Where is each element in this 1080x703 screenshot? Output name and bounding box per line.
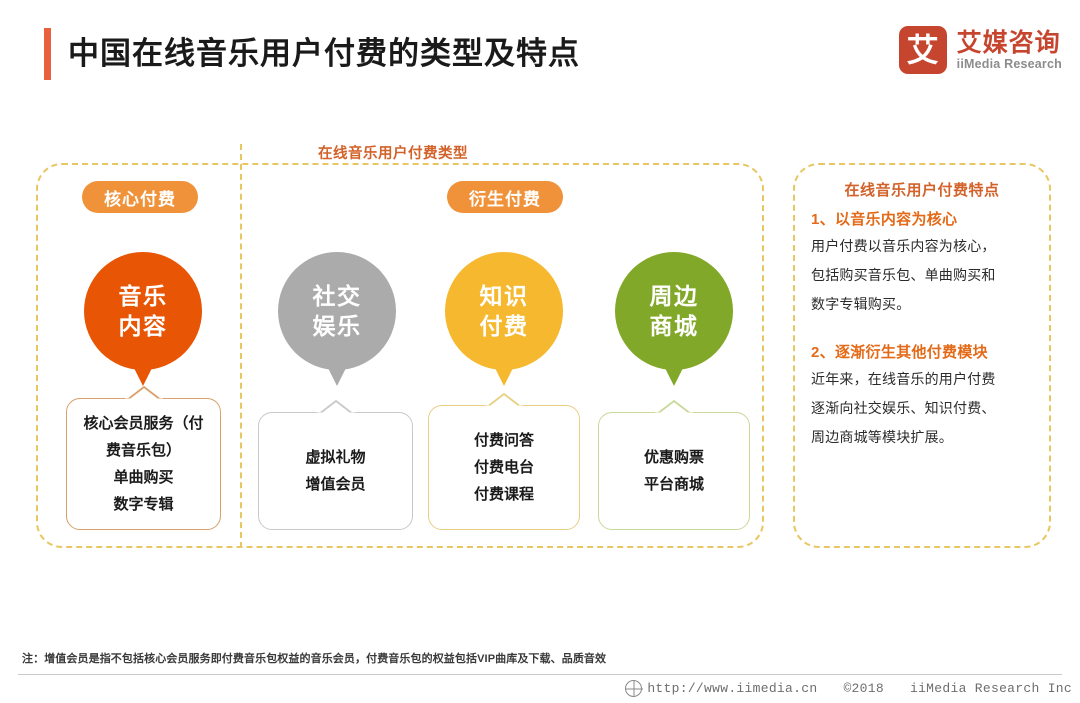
page-header: 中国在线音乐用户付费的类型及特点 艾 艾媒咨询 iiMedia Research <box>0 0 1080 108</box>
logo-mark-icon: 艾 <box>899 26 947 74</box>
detail-line: 平台商城 <box>644 471 704 498</box>
detail-box-knowledge-payment: 付费问答 付费电台 付费课程 <box>428 405 580 530</box>
feature-heading-2: 2、逐渐衍生其他付费模块 <box>811 341 1033 362</box>
footer-bar: http://www.iimedia.cn ©2018 iiMedia Rese… <box>625 680 1072 697</box>
logo-text: 艾媒咨询 iiMedia Research <box>957 29 1062 72</box>
bubble-peripheral-mall[interactable]: 周边 商城 <box>615 252 733 370</box>
detail-line: 付费电台 <box>474 454 534 481</box>
pill-core-payment[interactable]: 核心付费 <box>82 181 198 213</box>
detail-line: 单曲购买 <box>113 464 173 491</box>
footer-company: iiMedia Research Inc <box>910 681 1072 696</box>
feature-panel-title: 在线音乐用户付费特点 <box>811 179 1033 200</box>
notch-icon <box>319 401 353 415</box>
feature-body-line: 数字专辑购买。 <box>811 290 1033 319</box>
notch-icon <box>127 387 161 401</box>
detail-line: 优惠购票 <box>644 444 704 471</box>
bubble-tail-icon <box>326 364 348 386</box>
detail-box-social-entertainment: 虚拟礼物 增值会员 <box>258 412 413 530</box>
title-accent-bar <box>44 28 51 80</box>
footer-url-wrap[interactable]: http://www.iimedia.cn <box>625 680 817 697</box>
bubble-label-line2: 商城 <box>650 311 699 341</box>
bubble-social-entertainment[interactable]: 社交 娱乐 <box>278 252 396 370</box>
detail-line: 数字专辑 <box>113 491 173 518</box>
detail-line: 付费问答 <box>474 427 534 454</box>
detail-line: 增值会员 <box>305 471 365 498</box>
notch-icon <box>657 401 691 415</box>
bubble-circle: 社交 娱乐 <box>278 252 396 370</box>
footnote: 注：增值会员是指不包括核心会员服务即付费音乐包权益的音乐会员，付费音乐包的权益包… <box>22 650 606 666</box>
bubble-circle: 周边 商城 <box>615 252 733 370</box>
bubble-tail-icon <box>132 364 154 386</box>
bubble-label-line1: 社交 <box>313 281 362 311</box>
pill-derivative-payment[interactable]: 衍生付费 <box>447 181 563 213</box>
feature-body-1: 用户付费以音乐内容为核心， 包括购买音乐包、单曲购买和 数字专辑购买。 <box>811 232 1033 319</box>
core-derivative-divider <box>240 144 242 548</box>
bubble-knowledge-payment[interactable]: 知识 付费 <box>445 252 563 370</box>
bubble-label-line2: 内容 <box>119 311 168 341</box>
bubble-tail-icon <box>663 364 685 386</box>
bubble-label-line1: 知识 <box>480 281 529 311</box>
page-title: 中国在线音乐用户付费的类型及特点 <box>68 30 580 78</box>
brand-logo: 艾 艾媒咨询 iiMedia Research <box>899 26 1062 74</box>
feature-body-line: 用户付费以音乐内容为核心， <box>811 232 1033 261</box>
bubble-label-line2: 娱乐 <box>313 311 362 341</box>
bubble-label-line1: 周边 <box>650 281 699 311</box>
detail-line: 付费课程 <box>474 481 534 508</box>
globe-icon <box>625 680 642 697</box>
feature-panel: 在线音乐用户付费特点 1、以音乐内容为核心 用户付费以音乐内容为核心， 包括购买… <box>793 163 1051 548</box>
types-panel-caption: 在线音乐用户付费类型 <box>318 142 468 163</box>
footer-url[interactable]: http://www.iimedia.cn <box>647 681 817 696</box>
notch-icon <box>487 394 521 408</box>
logo-name-en: iiMedia Research <box>957 57 1062 72</box>
footer-divider <box>18 674 1062 675</box>
bubble-circle: 知识 付费 <box>445 252 563 370</box>
bubble-music-content[interactable]: 音乐 内容 <box>84 252 202 370</box>
footer-copyright: ©2018 <box>843 681 884 696</box>
feature-heading-1: 1、以音乐内容为核心 <box>811 208 1033 229</box>
feature-body-line: 近年来，在线音乐的用户付费 <box>811 365 1033 394</box>
logo-name-cn: 艾媒咨询 <box>957 29 1062 57</box>
detail-line: 费音乐包） <box>106 437 181 464</box>
bubble-label-line2: 付费 <box>480 311 529 341</box>
detail-line: 核心会员服务（付 <box>83 410 203 437</box>
feature-body-line: 逐渐向社交娱乐、知识付费、 <box>811 394 1033 423</box>
bubble-tail-icon <box>493 364 515 386</box>
bubble-circle: 音乐 内容 <box>84 252 202 370</box>
detail-line: 虚拟礼物 <box>305 444 365 471</box>
detail-box-peripheral-mall: 优惠购票 平台商城 <box>598 412 750 530</box>
detail-box-music-content: 核心会员服务（付 费音乐包） 单曲购买 数字专辑 <box>66 398 221 530</box>
feature-body-2: 近年来，在线音乐的用户付费 逐渐向社交娱乐、知识付费、 周边商城等模块扩展。 <box>811 365 1033 452</box>
feature-body-line: 包括购买音乐包、单曲购买和 <box>811 261 1033 290</box>
feature-body-line: 周边商城等模块扩展。 <box>811 423 1033 452</box>
feature-spacer <box>811 319 1033 341</box>
bubble-label-line1: 音乐 <box>119 281 168 311</box>
